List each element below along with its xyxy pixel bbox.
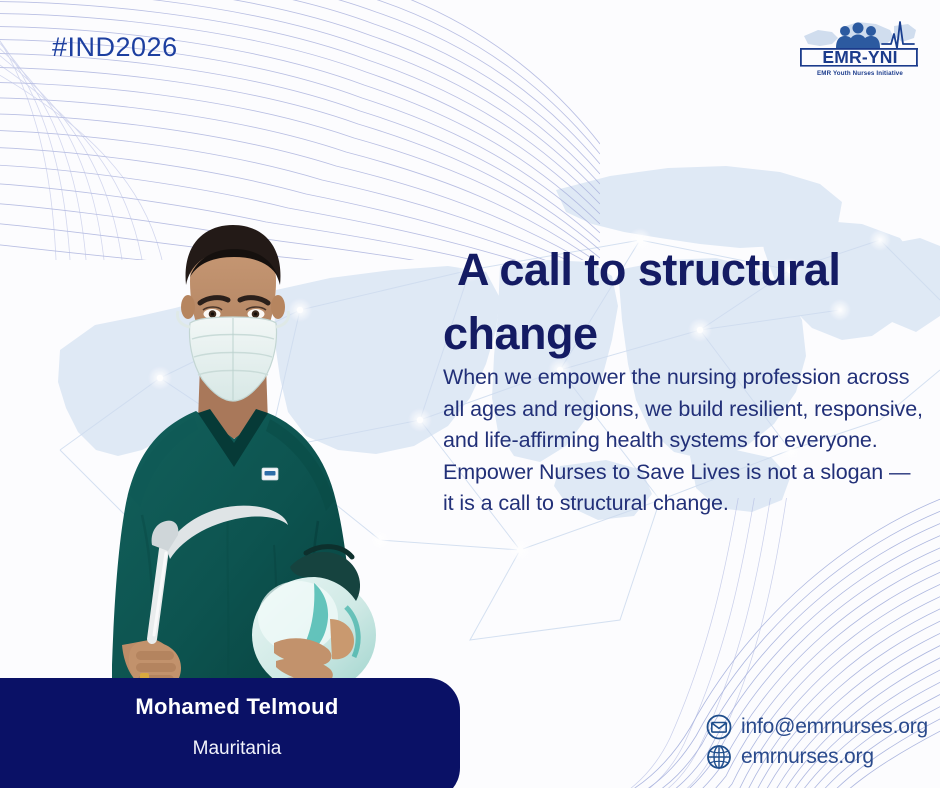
logo-tagline-text: EMR Youth Nurses Initiative [817, 70, 903, 77]
contact-block: info@emrnurses.org emrnurses.org [706, 714, 928, 774]
contact-email-row[interactable]: info@emrnurses.org [706, 714, 928, 740]
speaker-name: Mohamed Telmoud [135, 694, 338, 720]
contact-website-row[interactable]: emrnurses.org [706, 744, 928, 770]
emr-yni-logo: EMR-YNI EMR Youth Nurses Initiative [798, 14, 922, 80]
globe-icon [706, 744, 732, 770]
logo-wordmark-text: EMR-YNI [822, 47, 897, 67]
contact-website-text: emrnurses.org [741, 745, 874, 769]
speaker-name-card: Mohamed Telmoud Mauritania [0, 678, 460, 788]
contact-email-text: info@emrnurses.org [741, 715, 928, 739]
page-headline: A call to structural change [443, 238, 923, 366]
body-paragraph: When we empower the nursing profession a… [443, 362, 925, 520]
campaign-hashtag: #IND2026 [52, 32, 178, 63]
headline-line-1: A call to structural [443, 238, 923, 302]
envelope-icon [706, 714, 732, 740]
speaker-country: Mauritania [193, 738, 282, 760]
poster-canvas: #IND2026 [0, 0, 940, 788]
headline-line-2: change [443, 302, 923, 366]
nurse-photo [78, 215, 388, 725]
